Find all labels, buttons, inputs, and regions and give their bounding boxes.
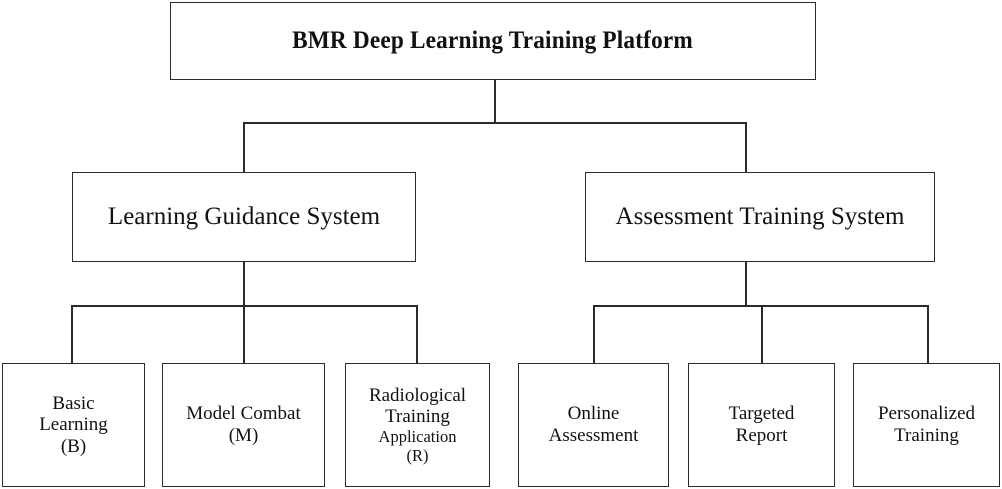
connector-root-stem — [494, 80, 496, 123]
node-leaf-model-combat: Model Combat (M) — [162, 363, 325, 487]
connector-root-to-group-1 — [243, 122, 245, 173]
node-leaf-3-line-2: Training — [385, 406, 450, 428]
connector-root-to-group-2 — [745, 122, 747, 173]
node-leaf-4-line-2: Assessment — [549, 425, 639, 447]
node-leaf-2-line-1: Model Combat — [186, 403, 301, 425]
node-group-learning-guidance-system: Learning Guidance System — [72, 172, 416, 262]
connector-group-2-to-leaf-1 — [593, 305, 595, 363]
node-root: BMR Deep Learning Training Platform — [170, 2, 816, 80]
connector-group-1-bus — [71, 305, 418, 307]
node-leaf-4-line-1: Online — [568, 403, 620, 425]
node-leaf-3-line-4: (R) — [407, 447, 429, 466]
node-leaf-targeted-report: Targeted Report — [688, 363, 835, 487]
node-leaf-1-line-3: (B) — [61, 436, 86, 458]
connector-group-1-stem — [243, 262, 245, 306]
node-leaf-1-line-1: Basic — [52, 393, 94, 415]
connector-group-1-to-leaf-3 — [416, 305, 418, 363]
connector-group-1-to-leaf-2 — [243, 305, 245, 363]
node-group-1-label: Learning Guidance System — [108, 203, 380, 232]
node-leaf-6-line-2: Training — [894, 425, 959, 447]
node-leaf-basic-learning: Basic Learning (B) — [2, 363, 145, 487]
node-leaf-5-line-2: Report — [736, 425, 788, 447]
node-group-assessment-training-system: Assessment Training System — [585, 172, 935, 262]
node-leaf-3-line-3: Application — [379, 428, 457, 447]
connector-group-2-to-leaf-3 — [927, 305, 929, 363]
diagram-canvas: BMR Deep Learning Training Platform Lear… — [0, 0, 1002, 489]
connector-group-2-stem — [745, 262, 747, 306]
node-leaf-online-assessment: Online Assessment — [518, 363, 669, 487]
node-leaf-6-line-1: Personalized — [878, 403, 975, 425]
connector-group-1-to-leaf-1 — [71, 305, 73, 363]
node-group-2-label: Assessment Training System — [616, 203, 905, 232]
node-leaf-2-line-2: (M) — [229, 425, 259, 447]
node-leaf-3-line-1: Radiological — [369, 385, 466, 407]
node-leaf-radiological-training-application: Radiological Training Application (R) — [345, 363, 490, 487]
connector-root-bus — [243, 122, 746, 124]
node-leaf-5-line-1: Targeted — [729, 403, 795, 425]
node-leaf-1-line-2: Learning — [39, 414, 108, 436]
node-leaf-personalized-training: Personalized Training — [853, 363, 1000, 487]
connector-group-2-to-leaf-2 — [761, 305, 763, 363]
node-root-label: BMR Deep Learning Training Platform — [293, 27, 694, 56]
